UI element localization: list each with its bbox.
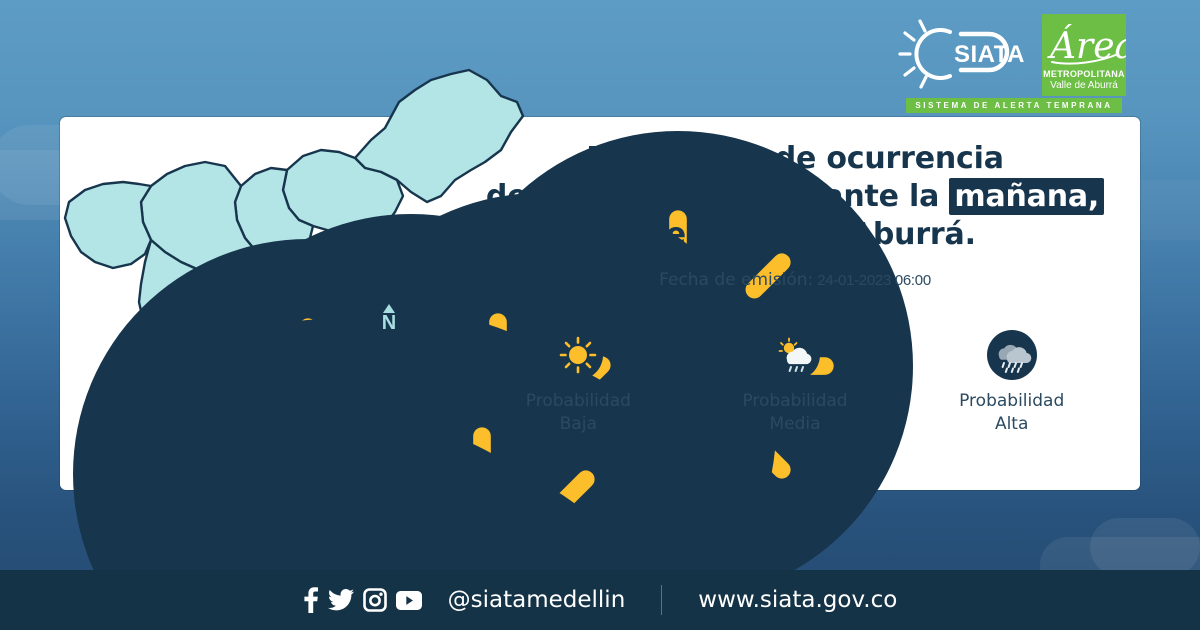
legend-label-line1: Probabilidad xyxy=(742,390,847,413)
siata-tagline-bar: SISTEMA DE ALERTA TEMPRANA xyxy=(906,98,1122,113)
svg-text:SIATA: SIATA xyxy=(954,41,1025,68)
legend-label-line2: Media xyxy=(742,413,847,436)
legend-label-alta: Probabilidad Alta xyxy=(959,390,1064,436)
title-line-3: en el Valle de Aburrá. xyxy=(470,216,1120,254)
footer-bar: @siatamedellin www.siata.gov.co xyxy=(0,570,1200,630)
sun-behind-rain-cloud-icon xyxy=(770,330,820,380)
issue-date-value: 24-01-2023 06:00 xyxy=(817,272,931,289)
area-script-icon: Área xyxy=(1042,16,1126,70)
title-line-2: de precipitación durante la mañana, xyxy=(470,178,1120,216)
map-pin-sun[interactable] xyxy=(247,313,295,361)
forecast-panel: Pronóstico de ocurrencia de precipitació… xyxy=(470,140,1120,290)
map-pin-sun[interactable] xyxy=(97,426,145,474)
legend-item-media: Probabilidad Media xyxy=(687,330,904,436)
poster-canvas: SIATA Área METROPOLITANA Valle de Aburrá… xyxy=(0,0,1200,630)
instagram-icon[interactable] xyxy=(363,588,387,612)
siata-tagline: SISTEMA DE ALERTA TEMPRANA xyxy=(915,101,1112,110)
title-highlight: mañana, xyxy=(949,178,1104,215)
legend-label-line1: Probabilidad xyxy=(526,390,631,413)
website-url[interactable]: www.siata.gov.co xyxy=(698,587,897,613)
siata-logo: SIATA xyxy=(898,18,1038,90)
map-pin-sun[interactable] xyxy=(443,96,491,144)
legend-label-line2: Baja xyxy=(526,413,631,436)
area-line2: Valle de Aburrá xyxy=(1050,80,1118,92)
title-line-2-text: de precipitación durante la xyxy=(486,179,939,214)
logo-group: SIATA Área METROPOLITANA Valle de Aburrá… xyxy=(898,14,1130,110)
sun-icon xyxy=(553,330,603,380)
area-line1: METROPOLITANA xyxy=(1043,69,1125,80)
issue-date-label: Fecha de emisión: xyxy=(659,270,813,290)
map-pin-sun[interactable] xyxy=(184,279,232,327)
facebook-icon[interactable] xyxy=(303,587,319,613)
legend-label-media: Probabilidad Media xyxy=(742,390,847,436)
probability-legend: Probabilidad Baja xyxy=(470,330,1120,436)
twitter-icon[interactable] xyxy=(328,589,354,611)
title-line-1: Pronóstico de ocurrencia xyxy=(470,140,1120,178)
map-pin-sun[interactable] xyxy=(136,471,184,519)
rain-cloud-icon xyxy=(987,330,1037,380)
social-handle[interactable]: @siatamedellin xyxy=(448,587,626,613)
footer-divider xyxy=(661,585,662,615)
legend-label-baja: Probabilidad Baja xyxy=(526,390,631,436)
youtube-icon[interactable] xyxy=(396,591,422,610)
compass-label: N xyxy=(382,314,396,332)
cloud-shape xyxy=(1090,518,1200,576)
area-metropolitana-logo: Área METROPOLITANA Valle de Aburrá xyxy=(1042,14,1126,96)
svg-text:Área: Área xyxy=(1047,25,1126,67)
issue-date: Fecha de emisión:24-01-2023 06:00 xyxy=(470,270,1120,290)
social-icons xyxy=(303,587,422,613)
valle-de-aburra-map: N xyxy=(55,40,525,580)
legend-label-line2: Alta xyxy=(959,413,1064,436)
compass-rose: N xyxy=(363,292,415,344)
map-pin-sun[interactable] xyxy=(73,204,121,252)
page-title: Pronóstico de ocurrencia de precipitació… xyxy=(470,140,1120,254)
map-pin-sun[interactable] xyxy=(94,284,142,332)
legend-item-alta: Probabilidad Alta xyxy=(903,330,1120,436)
legend-item-baja: Probabilidad Baja xyxy=(470,330,687,436)
legend-label-line1: Probabilidad xyxy=(959,390,1064,413)
